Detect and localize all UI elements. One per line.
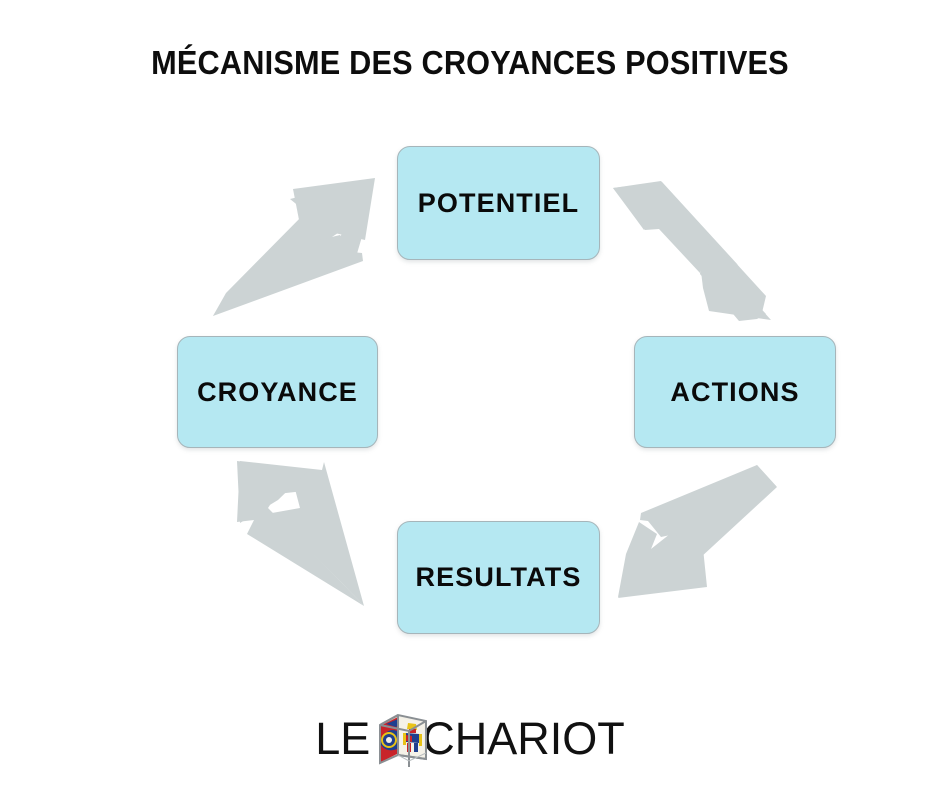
node-croyance-label: CROYANCE — [197, 377, 358, 408]
node-actions-label: ACTIONS — [670, 377, 799, 408]
tarot-cube-icon — [376, 709, 432, 769]
node-croyance[interactable]: CROYANCE — [177, 336, 378, 448]
logo-word-le: LE — [315, 714, 370, 764]
arrow-croyance-to-potentiel — [213, 178, 375, 316]
arrow-resultats-to-croyance — [237, 461, 364, 606]
logo-word-chariot: CHARIOT — [422, 714, 625, 764]
node-actions[interactable]: ACTIONS — [634, 336, 836, 448]
brand-logo: LE — [0, 706, 940, 772]
node-resultats-label: RESULTATS — [416, 562, 582, 593]
arrow-actions-to-resultats — [618, 465, 777, 598]
node-potentiel-label: POTENTIEL — [418, 188, 579, 219]
arrow-potentiel-to-actions — [613, 181, 771, 321]
node-potentiel[interactable]: POTENTIEL — [397, 146, 600, 260]
node-resultats[interactable]: RESULTATS — [397, 521, 600, 634]
diagram-canvas: MÉCANISME DES CROYANCES POSITIVES — [0, 0, 940, 788]
